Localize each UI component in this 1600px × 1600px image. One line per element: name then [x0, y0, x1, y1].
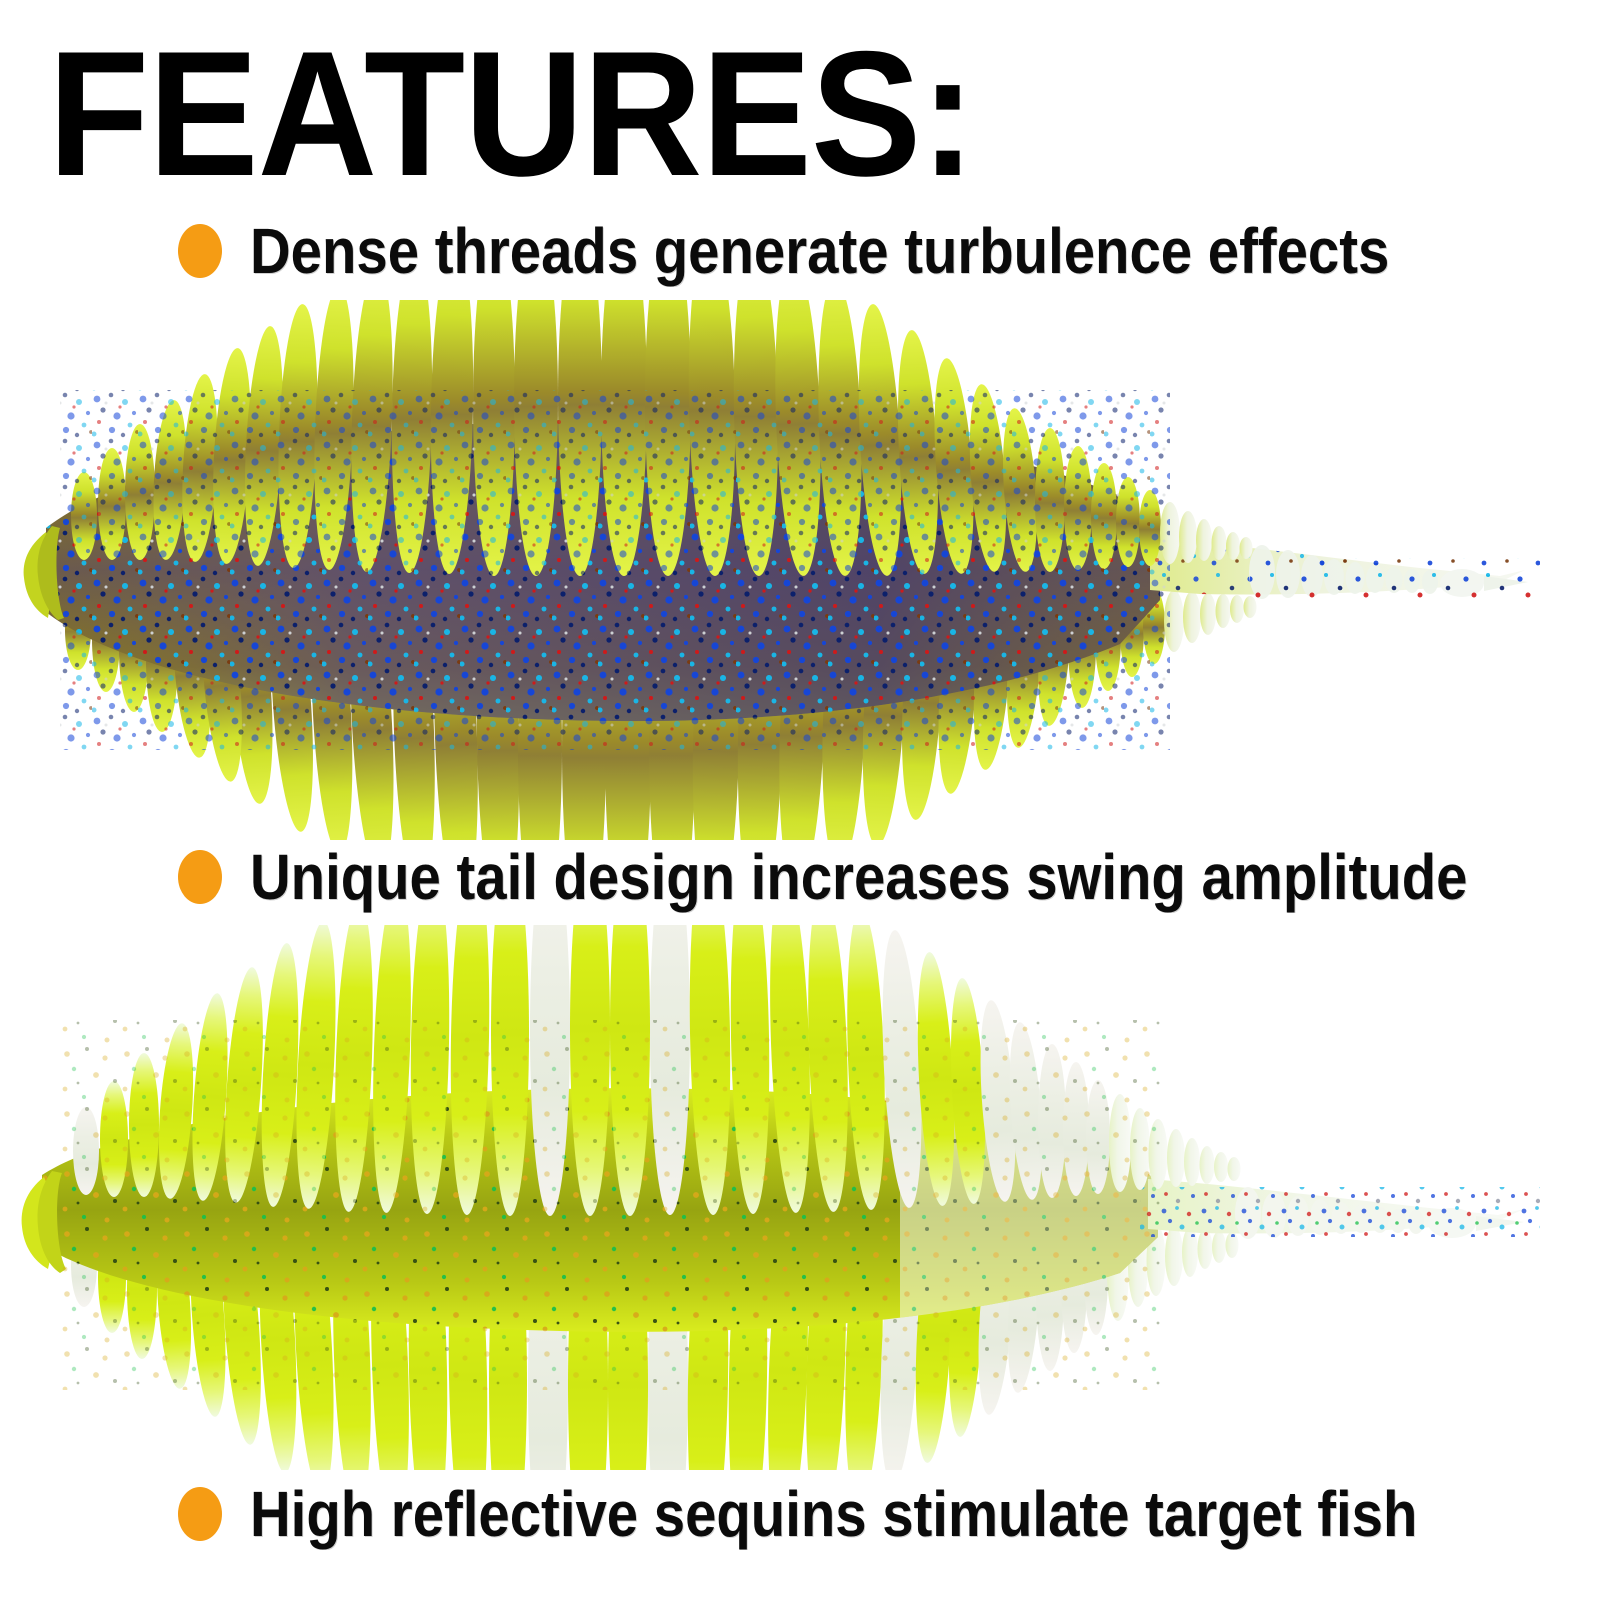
- feature-label-3: High reflective sequins stimulate target…: [250, 1482, 1417, 1546]
- orange-dot-icon: [178, 1487, 222, 1541]
- product-image-lure-1: [0, 300, 1600, 840]
- lure-1-svg: [0, 300, 1600, 840]
- lure-2-tail: [1140, 1179, 1540, 1239]
- feature-page: FEATURES:: [0, 0, 1600, 1600]
- feature-item-3: High reflective sequins stimulate target…: [178, 1482, 1577, 1546]
- lure-2-upper-ribs: [60, 925, 1241, 1390]
- feature-label-1: Dense threads generate turbulence effect…: [250, 219, 1389, 283]
- lure-2-svg: [0, 925, 1600, 1470]
- feature-item-1: Dense threads generate turbulence effect…: [178, 219, 1545, 283]
- feature-item-2: Unique tail design increases swing ampli…: [178, 845, 1600, 909]
- product-image-lure-2: [0, 925, 1600, 1470]
- orange-dot-icon: [178, 850, 222, 904]
- feature-label-2: Unique tail design increases swing ampli…: [250, 845, 1467, 909]
- lure-1-upper-ribs: [60, 300, 1253, 750]
- page-title: FEATURES:: [48, 32, 975, 196]
- orange-dot-icon: [178, 224, 222, 278]
